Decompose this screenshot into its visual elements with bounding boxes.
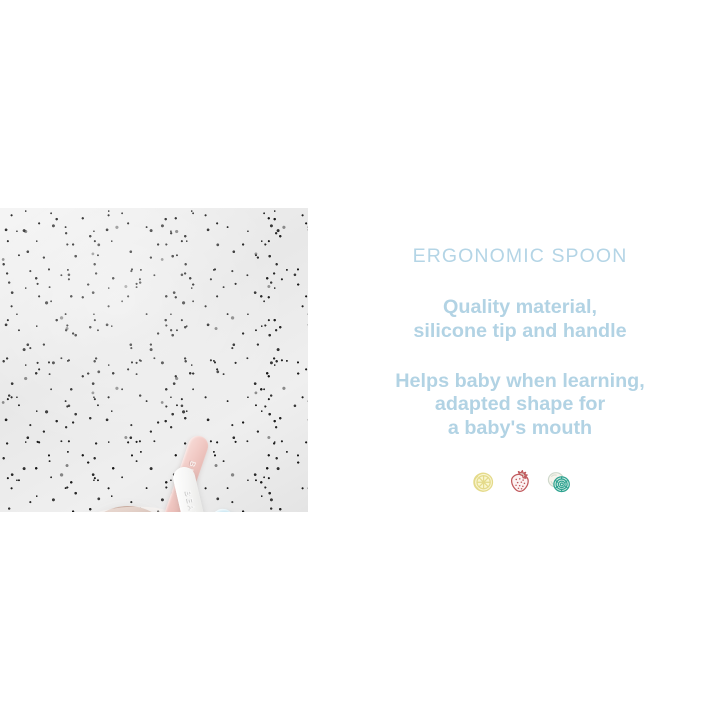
- feature-block-2-line-1: Helps baby when learning,: [395, 370, 645, 394]
- feature-text-panel: ERGONOMIC SPOON Quality material, silico…: [330, 208, 710, 512]
- product-infographic: BEABA BEABA BEABA ERGONOMIC SPOON Qualit…: [0, 0, 720, 720]
- feature-block-1: Quality material, silicone tip and handl…: [413, 296, 626, 344]
- feature-block-2: Helps baby when learning, adapted shape …: [395, 370, 645, 441]
- food-icon-row: [467, 467, 573, 497]
- feature-block-1-line-1: Quality material,: [413, 296, 626, 320]
- product-photo: BEABA BEABA BEABA: [0, 208, 308, 512]
- page-title: ERGONOMIC SPOON: [413, 245, 628, 268]
- feature-block-1-line-2: silicone tip and handle: [413, 320, 626, 344]
- artichoke-icon: [543, 467, 573, 497]
- lemon-half-icon: [467, 467, 497, 497]
- feature-block-2-line-2: adapted shape for: [395, 393, 645, 417]
- feature-block-2-line-3: a baby's mouth: [395, 417, 645, 441]
- terrazzo-speckles-overlay: [0, 208, 308, 512]
- strawberry-icon: [505, 467, 535, 497]
